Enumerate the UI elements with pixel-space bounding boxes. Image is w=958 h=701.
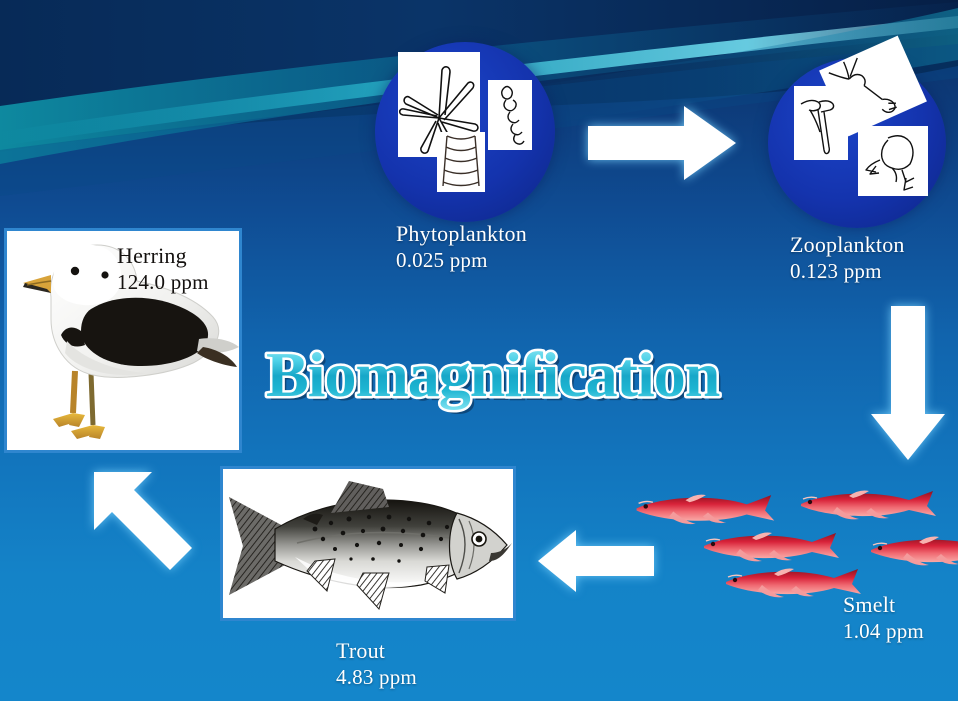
- node-zooplankton[interactable]: [768, 58, 946, 228]
- herring-value: 124.0 ppm: [117, 270, 209, 296]
- zooplankton-card-3: [858, 126, 928, 196]
- page-title: Biomagnification Biomagnification Biomag…: [262, 340, 822, 420]
- zooplankton-sketch-daphnia: [858, 126, 928, 196]
- label-herring: Herring 124.0 ppm: [117, 243, 209, 295]
- arrow-phytoplankton-to-zooplankton: [588, 104, 738, 182]
- phytoplankton-card-2: [488, 80, 532, 150]
- label-zooplankton: Zooplankton 0.123 ppm: [790, 232, 905, 284]
- biomagnification-slide: Phytoplankton 0.025 ppm: [0, 0, 958, 701]
- phytoplankton-sketch-ladder: [437, 132, 485, 192]
- arrow-zooplankton-to-smelt: [869, 306, 947, 462]
- zooplankton-name: Zooplankton: [790, 232, 905, 257]
- zooplankton-value: 0.123 ppm: [790, 259, 905, 285]
- herring-name: Herring: [117, 243, 187, 268]
- phytoplankton-card-3: [437, 132, 485, 192]
- node-phytoplankton[interactable]: [375, 42, 555, 222]
- smelt-value: 1.04 ppm: [843, 619, 924, 645]
- trout-illustration: [223, 469, 513, 618]
- phytoplankton-sketch-chain: [488, 80, 532, 150]
- smelt-name: Smelt: [843, 592, 895, 617]
- node-trout[interactable]: [220, 466, 516, 621]
- trout-name: Trout: [336, 638, 385, 663]
- trout-value: 4.83 ppm: [336, 665, 417, 691]
- label-trout: Trout 4.83 ppm: [336, 638, 417, 690]
- node-herring[interactable]: Herring 124.0 ppm: [4, 228, 242, 453]
- label-smelt: Smelt 1.04 ppm: [843, 592, 924, 644]
- phytoplankton-value: 0.025 ppm: [396, 248, 527, 274]
- label-phytoplankton: Phytoplankton 0.025 ppm: [396, 221, 527, 273]
- phytoplankton-name: Phytoplankton: [396, 221, 527, 246]
- title-text: Biomagnification: [266, 339, 720, 410]
- arrow-trout-to-herring: [88, 466, 218, 596]
- arrow-smelt-to-trout: [536, 528, 654, 594]
